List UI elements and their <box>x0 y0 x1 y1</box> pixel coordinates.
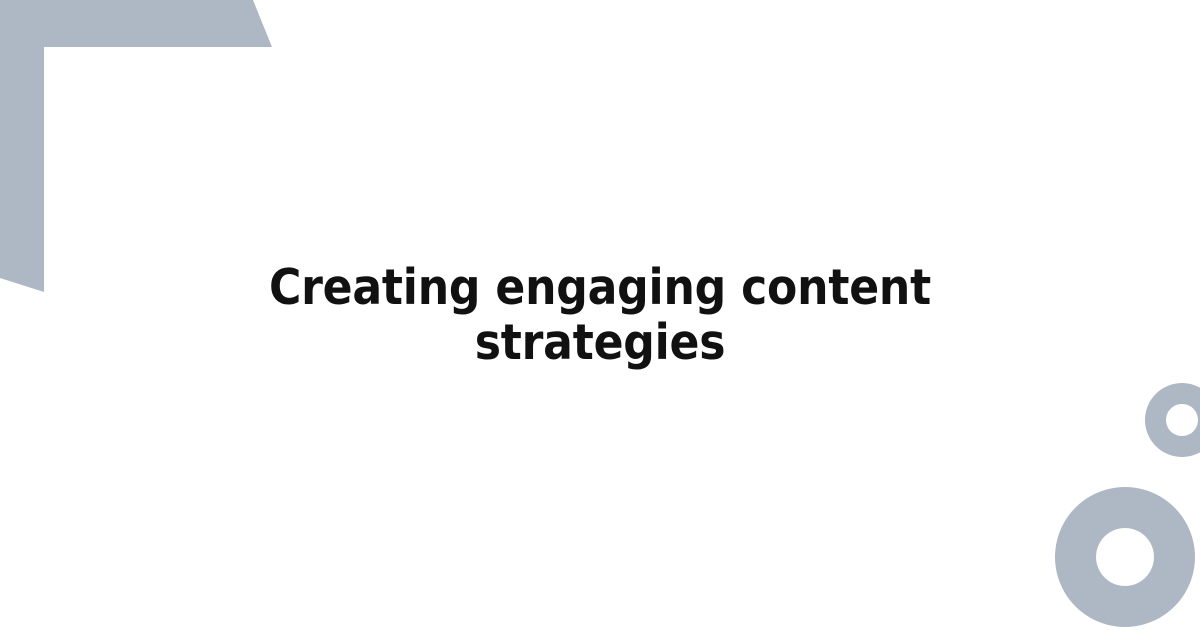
headline-container: Creating engaging content strategies <box>0 0 1200 630</box>
page-title: Creating engaging content strategies <box>240 261 960 371</box>
social-share-card: Creating engaging content strategies <box>0 0 1200 630</box>
